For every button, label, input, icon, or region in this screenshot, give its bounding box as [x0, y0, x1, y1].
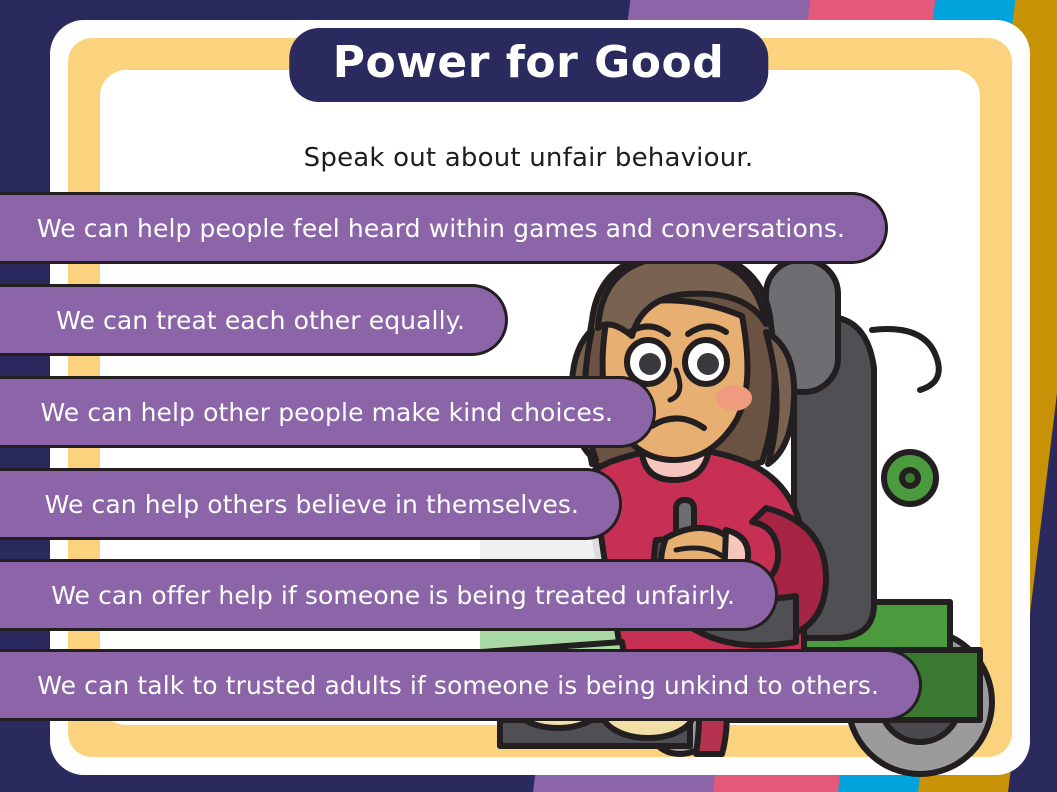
statement-banner-text: We can offer help if someone is being tr… — [51, 581, 735, 610]
page-title: Power for Good — [333, 40, 724, 86]
statement-banner-text: We can help other people make kind choic… — [40, 398, 613, 427]
statement-banner: We can offer help if someone is being tr… — [0, 559, 778, 631]
statement-banner-list: We can help people feel heard within gam… — [0, 0, 1057, 792]
poster-title-pill: Power for Good — [289, 28, 768, 102]
statement-banner-text: We can treat each other equally. — [56, 306, 465, 335]
statement-banner: We can treat each other equally. — [0, 284, 508, 356]
statement-banner: We can help others believe in themselves… — [0, 468, 622, 540]
statement-banner-text: We can help others believe in themselves… — [45, 490, 579, 519]
statement-banner-text: We can help people feel heard within gam… — [37, 214, 845, 243]
statement-banner: We can help people feel heard within gam… — [0, 192, 888, 264]
statement-banner-text: We can talk to trusted adults if someone… — [37, 671, 879, 700]
statement-banner: We can talk to trusted adults if someone… — [0, 649, 922, 721]
statement-banner: We can help other people make kind choic… — [0, 376, 656, 448]
